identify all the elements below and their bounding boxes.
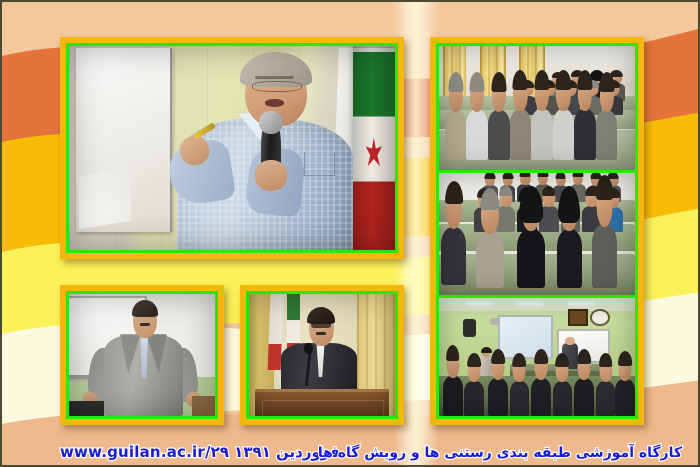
photo-vignette [439,298,635,416]
caption-website-date: www.guilan.ac.ir/۲۹ فروردین ۱۳۹۱ [60,443,340,461]
photo-vignette [439,46,635,170]
photo-frame-speaker-whiteboard[interactable] [60,285,224,425]
photo-vignette [69,46,395,250]
photo-frame-main-speaker[interactable] [60,37,404,259]
photo-frame-audience-column[interactable] [430,37,644,425]
photo-speaker-whiteboard [69,294,215,416]
photo-audience-front-rows [439,46,635,170]
caption-workshop-title-text: کارگاه آموزشی طبقه بندی رستنی ها و رویش … [318,445,682,461]
photo-audience-mixed [439,170,635,295]
photo-main-speaker [69,46,395,250]
caption-website-date-text: www.guilan.ac.ir/۲۹ فروردین ۱۳۹۱ [60,443,340,461]
photo-frame-speaker-podium[interactable] [240,285,404,425]
poster-canvas: www.guilan.ac.ir/۲۹ فروردین ۱۳۹۱ کارگاه … [0,0,700,467]
photo-vignette [249,294,395,416]
photo-vignette [69,294,215,416]
photo-inner-speaker-podium [246,291,398,419]
photo-speaker-podium [249,294,395,416]
photo-inner-audience-column [436,43,638,419]
caption-workshop-title: کارگاه آموزشی طبقه بندی رستنی ها و رویش … [318,445,682,461]
photo-inner-speaker-whiteboard [66,291,218,419]
photo-inner-main-speaker [66,43,398,253]
photo-lecture-hall-wide [439,295,635,416]
photo-vignette [439,173,635,295]
